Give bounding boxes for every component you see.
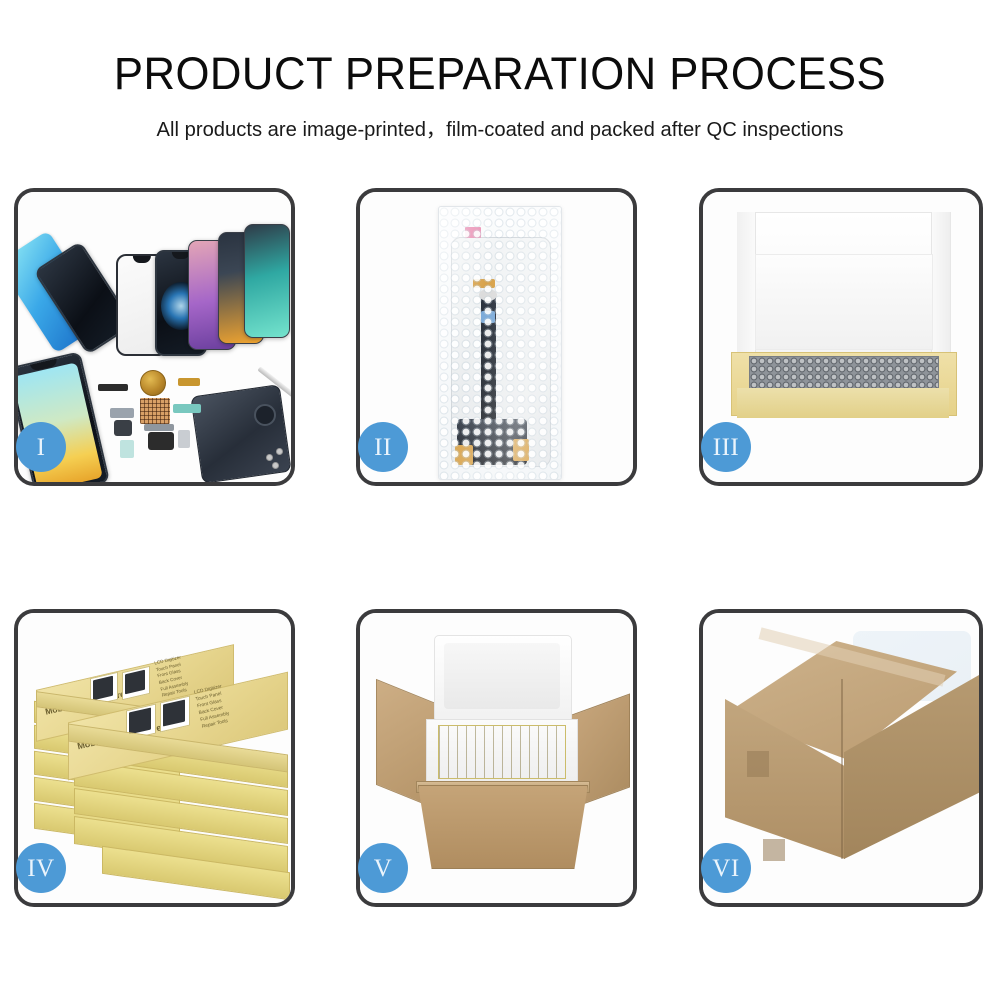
- carton-tape-upper: [747, 751, 769, 777]
- process-step-panel-1: I: [14, 188, 295, 486]
- housing-camera-ring: [254, 404, 276, 426]
- step-badge-4: IV: [16, 843, 66, 893]
- bubble-wrap-bag: [438, 206, 562, 480]
- speaker-coil: [140, 370, 166, 396]
- plastic-sheen: [439, 207, 561, 479]
- step-badge-1: I: [16, 422, 66, 472]
- process-step-panel-3: III: [699, 188, 983, 486]
- glass-notch: [133, 256, 151, 263]
- screw-icon: [276, 448, 283, 455]
- charging-port-flex: [144, 424, 174, 431]
- battery-cell: [178, 430, 190, 448]
- process-step-panel-6: VI: [699, 609, 983, 907]
- ic-chip-grid: [140, 398, 170, 424]
- step-badge-6: VI: [701, 843, 751, 893]
- loudspeaker-module: [148, 432, 174, 450]
- process-step-grid: I II: [0, 0, 1000, 1000]
- yellow-boxes-inside: [438, 725, 566, 779]
- box-lid-flap-right: [931, 212, 950, 362]
- carton-tape-lower: [763, 839, 785, 861]
- foam-cooler-lid-inset: [444, 643, 560, 709]
- step-badge-2: II: [358, 422, 408, 472]
- vibration-motor: [114, 420, 132, 436]
- sim-tray: [120, 440, 134, 458]
- carton-body: [418, 785, 588, 869]
- box-lid-flap-left: [737, 212, 756, 362]
- process-step-panel-2: II: [356, 188, 637, 486]
- step-badge-3: III: [701, 422, 751, 472]
- power-flex-cable: [173, 404, 201, 413]
- carton-vertical-edge: [841, 679, 843, 859]
- screw-icon: [272, 462, 279, 469]
- flex-connector-gold: [178, 378, 200, 386]
- box-tray-front-face: [737, 388, 949, 418]
- step-badge-5: V: [358, 843, 408, 893]
- screw-icon: [266, 454, 273, 461]
- earpiece-mesh: [98, 384, 128, 391]
- phone-teal: [244, 224, 290, 338]
- camera-module-small: [110, 408, 134, 418]
- box-stack: Mobile Phone Spare Parts LCD Digitizer T…: [30, 639, 290, 889]
- process-step-panel-4: Mobile Phone Spare Parts LCD Digitizer T…: [14, 609, 295, 907]
- white-foam-sheet: [755, 254, 933, 350]
- process-step-panel-5: V: [356, 609, 637, 907]
